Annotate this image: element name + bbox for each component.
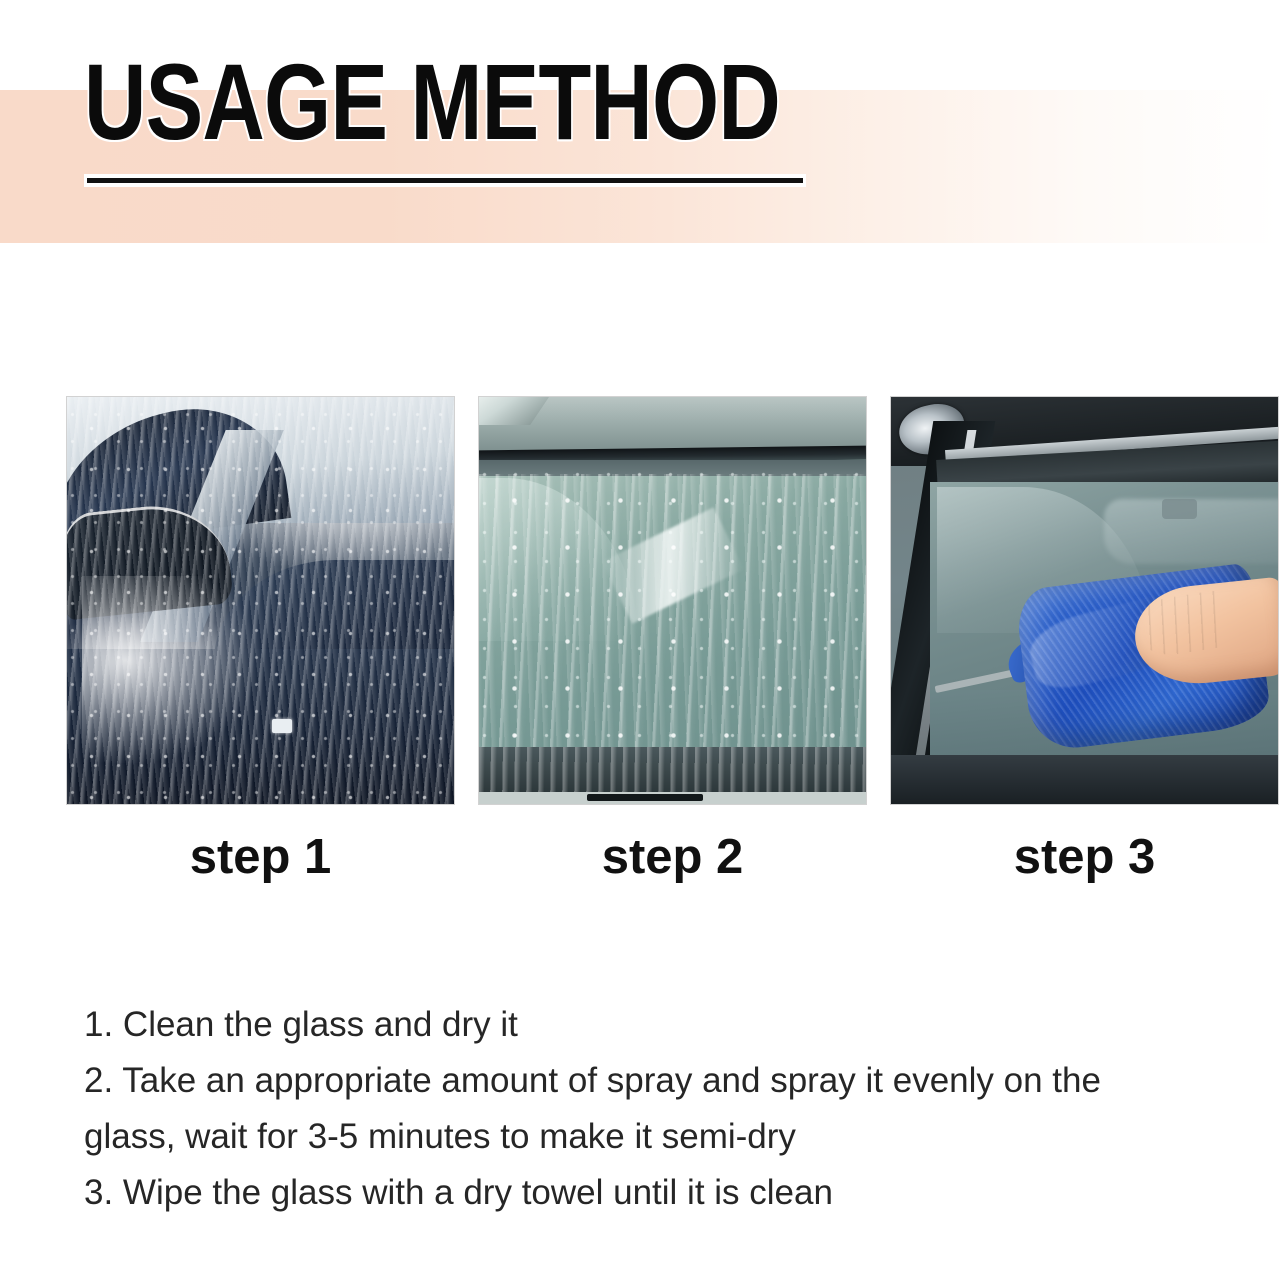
photo3-rearview-mirror: [1162, 499, 1197, 519]
towel-wipe-photo: [890, 396, 1279, 805]
step-label-2: step 2: [478, 829, 867, 885]
towel-wipe-photo-canvas: [891, 397, 1278, 804]
step-label-1: step 1: [66, 829, 455, 885]
sprayed-windshield-photo: [478, 396, 867, 805]
instruction-line-2: 2. Take an appropriate amount of spray a…: [84, 1053, 1274, 1109]
photo2-bottom-trim: [587, 794, 703, 801]
title-underline-inner: [87, 178, 803, 183]
photo2-water-droplets: [479, 470, 866, 763]
instruction-line-2-cont: glass, wait for 3-5 minutes to make it s…: [84, 1109, 1274, 1165]
car-rinse-photo: [66, 396, 455, 805]
title-underline-rule: [84, 174, 806, 187]
instruction-line-3: 3. Wipe the glass with a dry towel until…: [84, 1165, 1274, 1221]
step-label-3: step 3: [890, 829, 1279, 885]
step-card-1: step 1: [66, 396, 455, 885]
car-rinse-photo-canvas: [67, 397, 454, 804]
photo2-cowl-streaks: [479, 747, 866, 792]
photo1-water-droplets: [67, 397, 454, 804]
step-card-2: step 2: [478, 396, 867, 885]
photo1-door-badge: [272, 719, 292, 734]
sprayed-windshield-photo-canvas: [479, 397, 866, 804]
step-card-3: step 3: [890, 396, 1279, 885]
page-title: USAGE METHOD: [84, 46, 780, 158]
photo3-bottom-edge: [891, 755, 1278, 804]
instructions-block: 1. Clean the glass and dry it 2. Take an…: [84, 997, 1274, 1221]
instruction-line-1: 1. Clean the glass and dry it: [84, 997, 1274, 1053]
page-header: USAGE METHOD: [0, 0, 1280, 250]
